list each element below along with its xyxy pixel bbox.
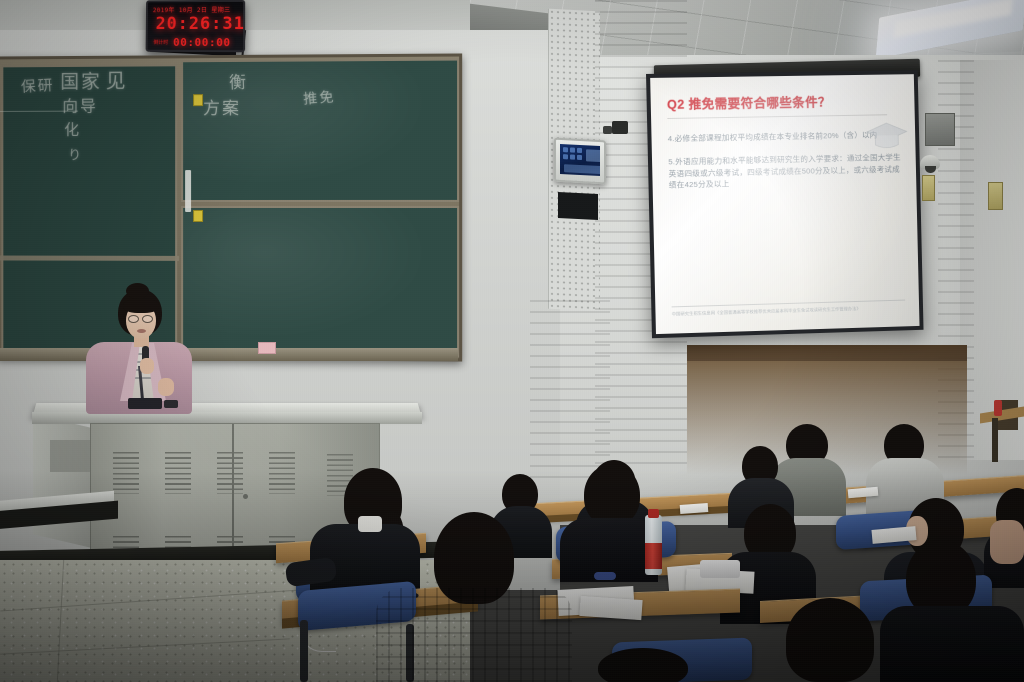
presenter-mouth: [137, 329, 146, 333]
slide-content: Q2 推免需要符合哪些条件？ 4.必修全部课程加权平均成绩在本专业排名前20%（…: [650, 74, 919, 334]
blackboard-divider: [0, 256, 179, 261]
presenter-hand-right: [158, 378, 174, 396]
water-bottle-label: [645, 543, 662, 569]
graduation-cap-icon: [864, 120, 910, 153]
screen-surface: Q2 推免需要符合哪些条件？ 4.必修全部课程加权平均成绩在本专业排名前20%（…: [650, 74, 919, 334]
presenter-fringe: [123, 298, 159, 313]
av-panel-screen[interactable]: [560, 144, 600, 176]
presenter-hair-bun: [126, 283, 149, 299]
presenter-glasses-left: [128, 315, 139, 323]
slide-title: Q2 推免需要符合哪些条件？: [667, 90, 901, 113]
blackboard-panel-upper-right: [181, 59, 459, 202]
paper-handout-r3c: [579, 596, 642, 620]
chalk-holder-strip: [185, 170, 191, 212]
yellow-sticker-upper: [193, 94, 203, 106]
clock-timer-label: 倒计时: [153, 39, 168, 46]
projection-screen: Q2 推免需要符合哪些条件？ 4.必修全部课程加权平均成绩在本专业排名前20%（…: [646, 70, 924, 338]
av-input-plate[interactable]: [558, 192, 598, 220]
student-collar-r2a: [358, 516, 382, 532]
camera-housing: [612, 121, 628, 134]
wall-speaker: [925, 113, 955, 146]
podium-side-shelf: [33, 414, 91, 547]
slide-footer-citation: 中国研究生招生信息网《全国普通高等学校推荐优秀应届本科毕业生免试攻读研究生工作管…: [672, 300, 906, 318]
classroom-scene: 2019年 10月 2日 星期三 20:26:31 倒计时 00:00:00 保…: [0, 0, 1024, 682]
yellow-sticker-lower: [193, 210, 203, 222]
podium-lock[interactable]: [243, 494, 248, 499]
presenter-glasses-right: [142, 315, 153, 323]
slide-item-5: 5.外语应用能力和水平能够达到研究生的入学要求：通过全国大学生英语四级或六级考试…: [668, 152, 902, 192]
blackboard-panel-lower-right: [181, 206, 459, 357]
blackboard: 保研 国家 见 向导 化 り 衡 方案 推免: [0, 53, 462, 361]
podium-small-device[interactable]: [164, 400, 178, 408]
wall-tag-right: [988, 182, 1003, 210]
student-body-front-right2: [880, 606, 1024, 682]
clock-date: 2019年 10月 2日 星期三: [153, 5, 239, 14]
clock-timer-value: 00:00:00: [173, 36, 231, 49]
student-head-r2b: [584, 464, 640, 526]
av-control-panel[interactable]: [554, 138, 606, 185]
water-bottle-cap: [648, 509, 659, 518]
student-raised-hand: [990, 520, 1024, 564]
camera-lens: [603, 126, 612, 134]
blackboard-chalk-tray: [0, 348, 458, 361]
red-object-on-far-desk: [994, 400, 1002, 416]
wooden-column-lower: [530, 300, 610, 480]
paper-r1a: [680, 503, 709, 514]
clock-time: 20:26:31: [156, 14, 246, 34]
led-wall-clock: 2019年 10月 2日 星期三 20:26:31 倒计时 00:00:00: [146, 0, 246, 52]
wall-dado-right: [687, 345, 967, 475]
far-desk-leg: [992, 418, 998, 462]
power-bank-right[interactable]: [700, 560, 740, 578]
dado-top-band: [687, 345, 967, 361]
student-head-front-bottom: [598, 648, 688, 682]
slide-title-rule: [667, 114, 887, 119]
student-head-front-right: [786, 598, 874, 682]
podium-remote-device[interactable]: [128, 398, 162, 409]
presenter-hand-holding-mic: [140, 358, 154, 374]
student-body-front-center: [376, 588, 572, 682]
podium-recess: [50, 440, 94, 472]
pink-note-card: [258, 342, 276, 354]
lanyard-on-desk: [594, 572, 616, 580]
wall-tag-left: [922, 175, 935, 201]
